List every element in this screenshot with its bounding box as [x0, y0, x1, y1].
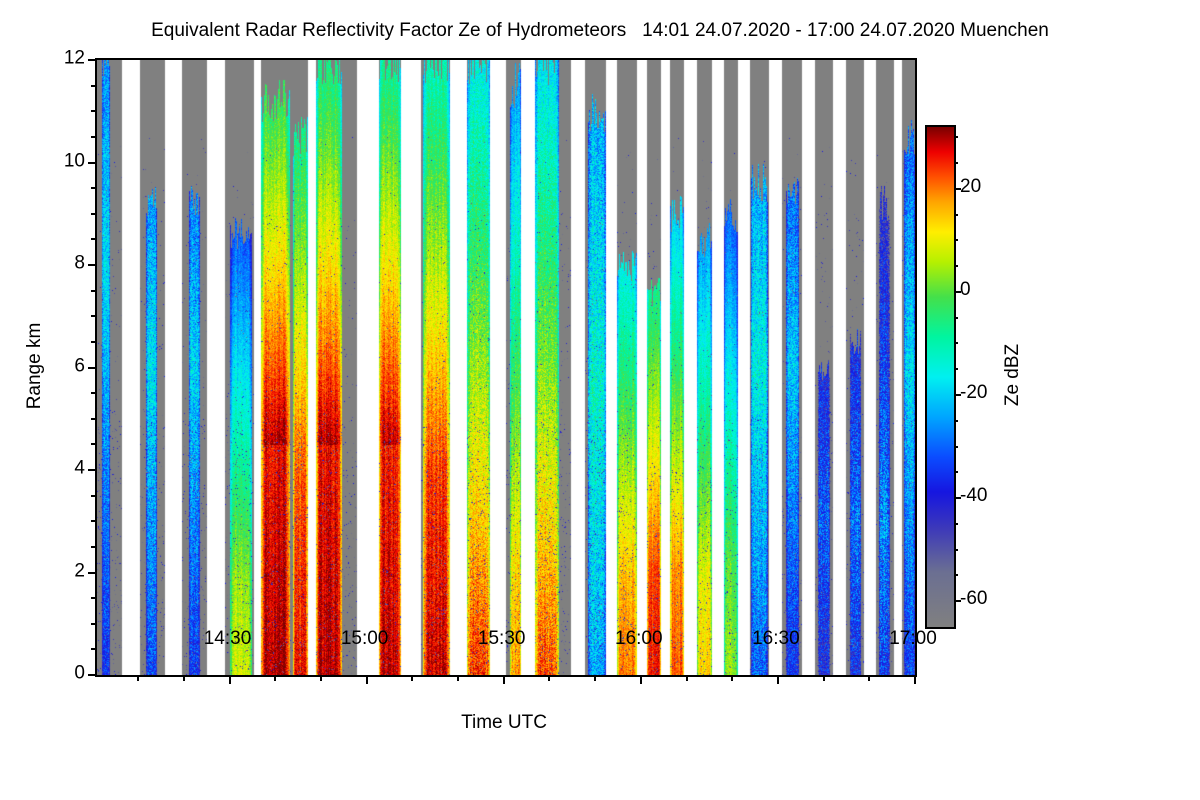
y-axis-minor-tick — [91, 418, 97, 420]
colorbar-minor-tick — [954, 420, 958, 422]
y-axis-tick-label: 12 — [25, 49, 85, 68]
colorbar-label-wrap: Ze dBZ — [1000, 125, 1026, 625]
x-axis-minor-tick — [274, 675, 276, 681]
y-axis-minor-tick — [91, 238, 97, 240]
y-axis-minor-tick — [91, 443, 97, 445]
colorbar-minor-tick — [954, 342, 958, 344]
x-axis-major-tick — [503, 675, 505, 684]
y-axis-minor-tick — [91, 495, 97, 497]
x-axis-tick-label: 15:30 — [457, 628, 547, 650]
colorbar-label: Ze dBZ — [1002, 344, 1024, 406]
x-axis-minor-tick — [868, 675, 870, 681]
colorbar-tick-label: -20 — [960, 382, 987, 404]
x-axis-minor-tick — [686, 675, 688, 681]
x-axis-major-tick — [229, 675, 231, 684]
colorbar-minor-tick — [954, 471, 958, 473]
y-axis-minor-tick — [91, 392, 97, 394]
colorbar-tick-label: 0 — [960, 279, 971, 301]
colorbar-gradient — [927, 127, 954, 627]
colorbar-minor-tick — [954, 549, 958, 551]
colorbar-minor-tick — [954, 162, 958, 164]
x-axis-tick-label: 16:30 — [731, 628, 821, 650]
x-axis-major-tick — [914, 675, 916, 684]
y-axis-minor-tick — [91, 187, 97, 189]
x-axis-minor-tick — [594, 675, 596, 681]
colorbar-minor-tick — [954, 523, 958, 525]
y-axis-major-tick — [88, 367, 97, 369]
y-axis-tick-label: 10 — [25, 151, 85, 170]
y-axis-minor-tick — [91, 546, 97, 548]
colorbar-tick-label: -60 — [960, 588, 987, 610]
y-axis-major-tick — [88, 572, 97, 574]
x-axis-minor-tick — [731, 675, 733, 681]
colorbar-minor-tick — [954, 574, 958, 576]
y-axis-tick-label: 4 — [25, 459, 85, 478]
y-axis-minor-tick — [91, 520, 97, 522]
y-axis-minor-tick — [91, 290, 97, 292]
y-axis-minor-tick — [91, 341, 97, 343]
x-axis-minor-tick — [411, 675, 413, 681]
y-axis-tick-label: 6 — [25, 356, 85, 375]
colorbar-minor-tick — [954, 136, 958, 138]
heatmap-plot-area[interactable] — [95, 58, 917, 677]
figure-title: Equivalent Radar Reflectivity Factor Ze … — [0, 20, 1200, 42]
y-axis-major-tick — [88, 469, 97, 471]
colorbar-minor-tick — [954, 265, 958, 267]
y-axis-major-tick — [88, 59, 97, 61]
colorbar-minor-tick — [954, 239, 958, 241]
x-axis-major-tick — [640, 675, 642, 684]
y-axis-tick-label: 2 — [25, 561, 85, 580]
y-axis-minor-tick — [91, 110, 97, 112]
x-axis-tick-label: 17:00 — [868, 628, 958, 650]
x-axis-tick-label: 16:00 — [594, 628, 684, 650]
colorbar-minor-tick — [954, 368, 958, 370]
y-axis-tick-label: 0 — [25, 664, 85, 683]
x-axis-major-tick — [777, 675, 779, 684]
x-axis-minor-tick — [137, 675, 139, 681]
reflectivity-heatmap-canvas — [97, 60, 915, 675]
colorbar-minor-tick — [954, 446, 958, 448]
y-axis-minor-tick — [91, 648, 97, 650]
y-axis-minor-tick — [91, 623, 97, 625]
x-axis-minor-tick — [183, 675, 185, 681]
y-axis-major-tick — [88, 674, 97, 676]
x-axis-minor-tick — [548, 675, 550, 681]
y-axis-minor-tick — [91, 315, 97, 317]
y-axis-minor-tick — [91, 136, 97, 138]
y-axis-tick-label: 8 — [25, 254, 85, 273]
x-axis-minor-tick — [320, 675, 322, 681]
y-axis-major-tick — [88, 162, 97, 164]
colorbar-minor-tick — [954, 214, 958, 216]
x-axis-minor-tick — [457, 675, 459, 681]
y-axis-minor-tick — [91, 213, 97, 215]
x-axis-minor-tick — [823, 675, 825, 681]
colorbar[interactable] — [925, 125, 956, 629]
colorbar-tick-label: -40 — [960, 485, 987, 507]
figure-root: Equivalent Radar Reflectivity Factor Ze … — [0, 0, 1200, 800]
y-axis-major-tick — [88, 264, 97, 266]
colorbar-minor-tick — [954, 317, 958, 319]
y-axis-minor-tick — [91, 85, 97, 87]
colorbar-tick-label: 20 — [960, 176, 981, 198]
y-axis-minor-tick — [91, 597, 97, 599]
x-axis-tick-label: 15:00 — [320, 628, 410, 650]
x-axis-tick-label: 14:30 — [183, 628, 273, 650]
x-axis-label: Time UTC — [95, 712, 913, 734]
x-axis-major-tick — [366, 675, 368, 684]
